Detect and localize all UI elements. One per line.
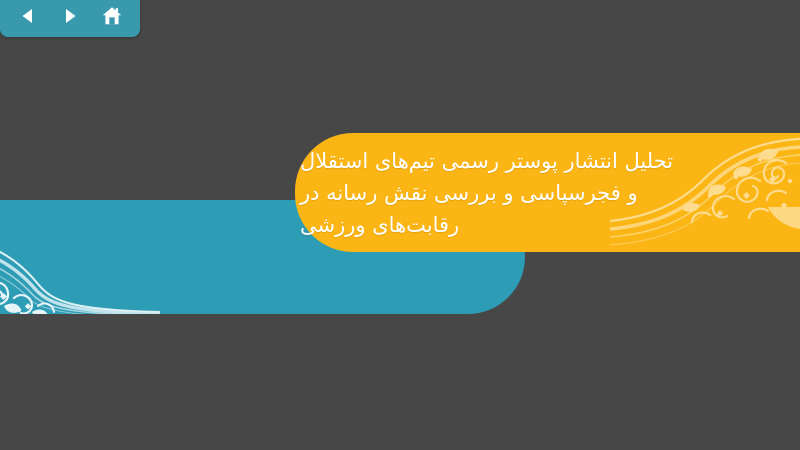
home-icon: [101, 5, 123, 27]
back-arrow-icon: [18, 6, 38, 26]
slide-canvas: تحلیل انتشار پوستر رسمی تیم‌های استقلال …: [0, 0, 800, 450]
forward-arrow-icon: [60, 6, 80, 26]
home-button[interactable]: [99, 3, 125, 29]
navigation-bar: [0, 0, 140, 37]
arabesque-ornament-icon: [610, 133, 800, 252]
forward-button[interactable]: [57, 3, 83, 29]
orange-band: [295, 133, 800, 252]
back-button[interactable]: [15, 3, 41, 29]
arabesque-ornament-icon: [0, 200, 160, 314]
